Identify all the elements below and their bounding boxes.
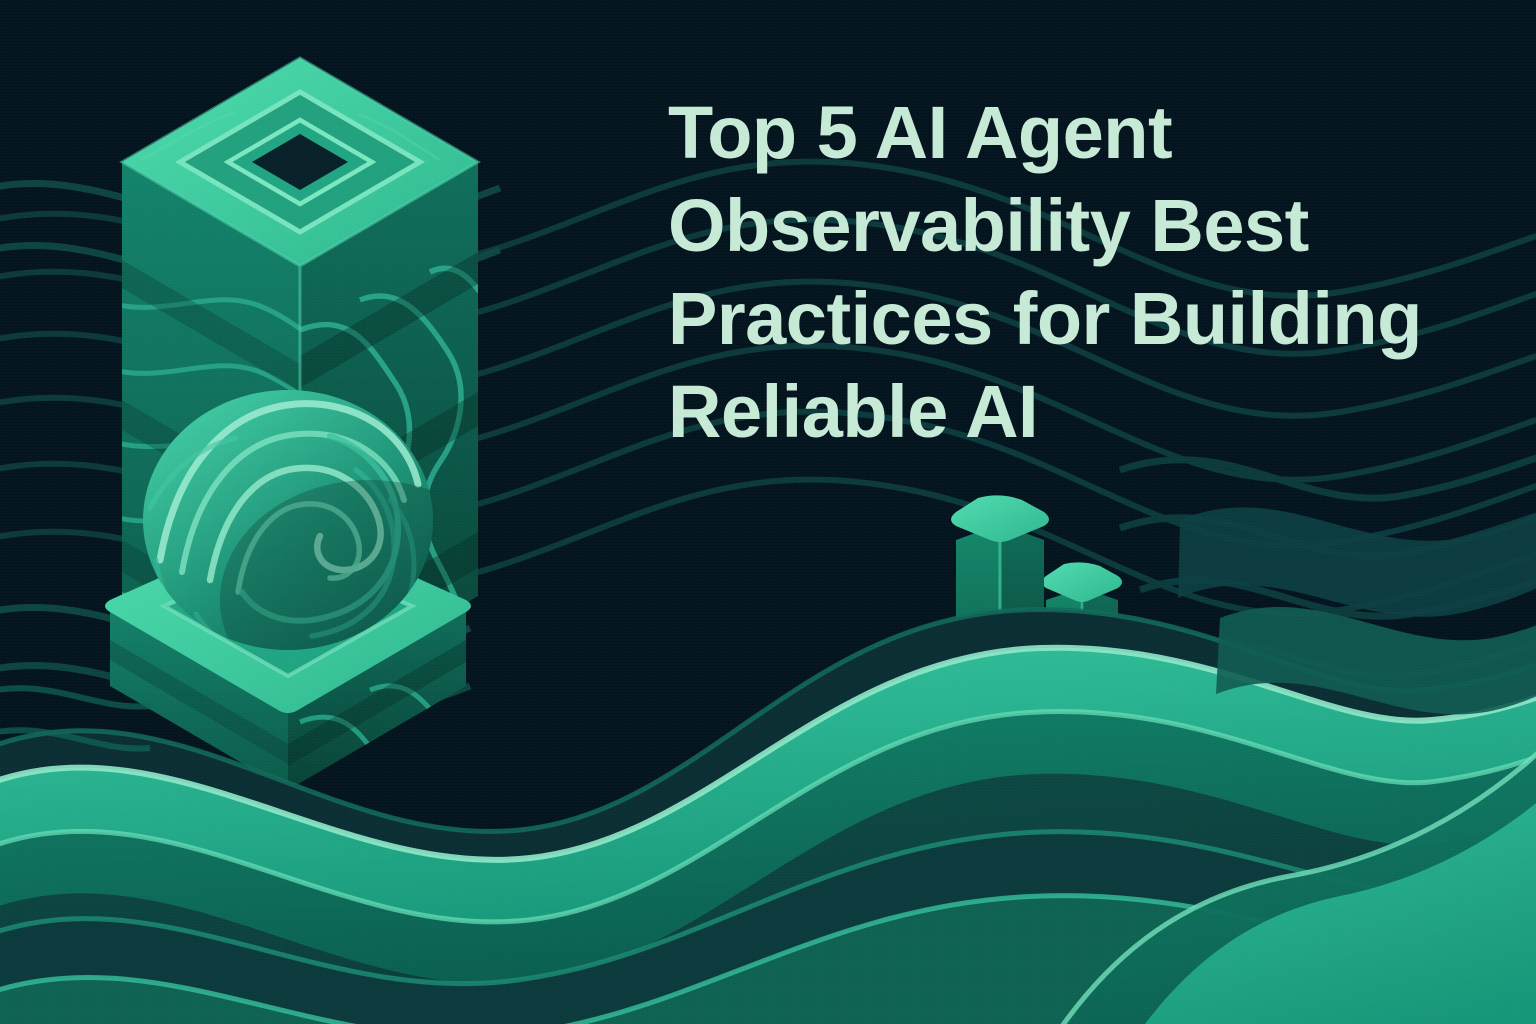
title-line-1: Top 5 AI Agent xyxy=(668,86,1520,179)
hero-banner: Top 5 AI Agent Observability Best Practi… xyxy=(0,0,1536,1024)
page-title: Top 5 AI Agent Observability Best Practi… xyxy=(668,86,1520,458)
title-line-2: Observability Best xyxy=(668,179,1520,272)
title-line-4: Reliable AI xyxy=(668,365,1520,458)
title-line-3: Practices for Building xyxy=(668,272,1520,365)
